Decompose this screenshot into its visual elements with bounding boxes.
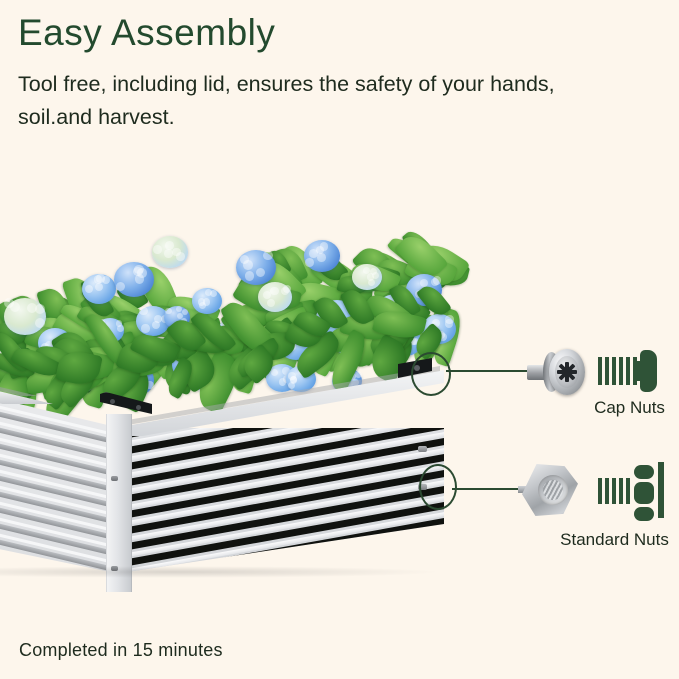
hex-nut-segment	[634, 465, 654, 479]
floret	[165, 308, 171, 314]
floret	[243, 260, 253, 270]
floret	[305, 258, 314, 267]
planter-inner-lip-right	[116, 366, 442, 428]
page-subtitle: Tool free, including lid, ensures the sa…	[18, 68, 618, 133]
corner-bracket	[100, 392, 152, 414]
callout-highlight-standard-nuts	[419, 464, 457, 510]
thread-bar	[612, 478, 616, 504]
callout-leader-line-standard-nuts	[452, 488, 522, 490]
floret	[203, 298, 210, 305]
ground-shadow	[0, 566, 442, 578]
washer-plate	[658, 462, 664, 518]
floret	[445, 319, 453, 327]
chrome-screw-icon	[527, 348, 585, 396]
cap-nut-diagram-icon	[598, 348, 662, 394]
callout-label-cap-nuts: Cap Nuts	[580, 398, 679, 418]
hex-nut-segment	[634, 507, 654, 521]
floret	[165, 241, 174, 250]
thread-bar	[612, 357, 616, 385]
hex-nut-segment	[634, 482, 654, 504]
completion-time-note: Completed in 15 minutes	[19, 640, 223, 661]
post-bolt-icon	[111, 476, 118, 481]
floret	[317, 253, 326, 262]
infographic-canvas: Easy Assembly Tool free, including lid, …	[0, 0, 679, 679]
floret	[153, 245, 162, 254]
floret	[95, 283, 103, 291]
hex-nut-thread	[543, 480, 563, 500]
floret	[182, 309, 188, 315]
floret	[267, 299, 275, 307]
thread-bar	[605, 478, 609, 504]
floret	[270, 287, 278, 295]
floret	[164, 249, 173, 258]
floret	[139, 307, 147, 315]
planter-left-face	[0, 398, 120, 574]
screw-drive-icon	[560, 362, 574, 382]
callout-label-standard-nuts: Standard Nuts	[550, 530, 679, 550]
floret	[433, 276, 442, 285]
floret	[172, 248, 181, 257]
thread-bar	[626, 357, 630, 385]
floret	[363, 267, 370, 274]
thread-bar	[598, 357, 602, 385]
floret	[116, 320, 123, 327]
thread-bar	[598, 478, 602, 504]
page-title: Easy Assembly	[18, 14, 275, 53]
callout-highlight-cap-nuts	[411, 352, 451, 396]
thread-bar	[619, 357, 623, 385]
thread-bar	[619, 478, 623, 504]
floret	[320, 242, 329, 251]
cap-collar	[636, 361, 643, 381]
chrome-hex-nut-icon	[518, 462, 580, 518]
bracket-bolt-icon	[136, 405, 141, 410]
panel-bolt-icon	[418, 446, 427, 452]
thread-bar	[605, 357, 609, 385]
thread-bar	[626, 478, 630, 504]
floret	[96, 274, 104, 282]
raised-garden-bed	[0, 330, 446, 600]
bracket-bolt-icon	[110, 399, 115, 404]
floret	[281, 287, 289, 295]
callout-leader-line-cap-nuts	[446, 370, 530, 372]
floret	[133, 267, 143, 277]
standard-nut-diagram-icon	[598, 462, 668, 518]
planter-rim-right	[114, 370, 446, 436]
